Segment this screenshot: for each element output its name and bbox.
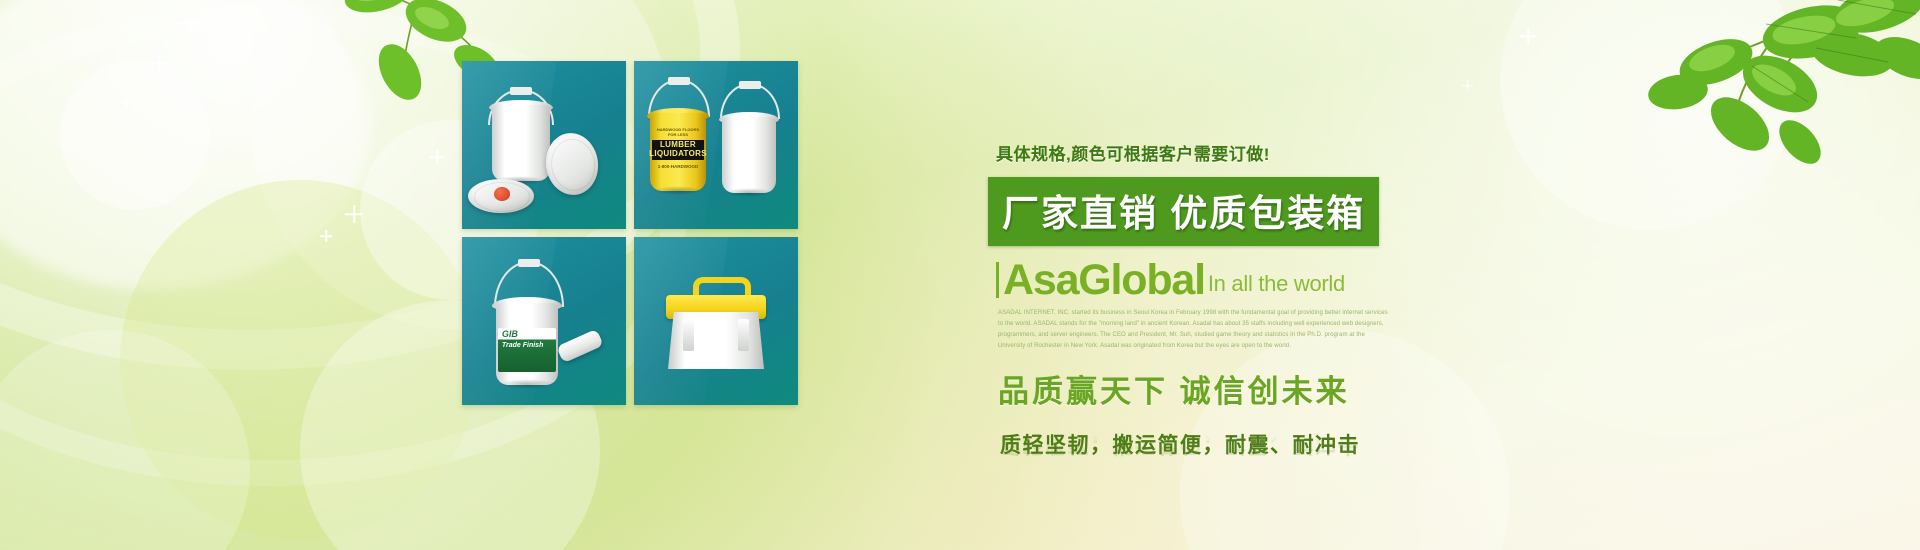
sparkle-icon (430, 150, 444, 164)
company-fine-print: ASADAL INTERNET, INC. started its busine… (998, 308, 1394, 352)
brand-row: AsaGlobal In all the world (996, 260, 1608, 301)
slogan-primary: 品质赢天下 诚信创未来 (998, 366, 1608, 411)
gib-label-sub: Trade Finish (498, 339, 556, 349)
product-panel-yellow-pail[interactable]: HARDWOOD FLOORS FOR LESS LUMBER LIQUIDAT… (634, 61, 798, 229)
tool-box-latch (738, 319, 749, 350)
label-brand-line2: LIQUIDATORS (649, 150, 707, 158)
bokeh-circle (60, 60, 210, 210)
promo-banner: HARDWOOD FLOORS FOR LESS LUMBER LIQUIDAT… (0, 0, 1920, 550)
pail-body (492, 105, 550, 181)
product-panel-white-pail[interactable] (462, 61, 626, 229)
headline-banner: 厂家直销 优质包装箱 (988, 177, 1379, 246)
pail-label-bottom: 1-800-HARDWOOD (653, 164, 702, 169)
white-pail (492, 105, 550, 181)
paint-roller (558, 337, 602, 355)
white-pail (722, 117, 776, 193)
sparkle-icon (176, 10, 202, 36)
pail-label-top: HARDWOOD FLOORS FOR LESS (653, 127, 702, 137)
brand-slogan: In all the world (1208, 271, 1345, 301)
product-panel-tool-box[interactable] (634, 237, 798, 405)
pail-grip (739, 81, 761, 89)
bokeh-circle (0, 0, 370, 290)
sparkle-icon (345, 205, 363, 223)
bokeh-circle (0, 330, 250, 550)
gib-pail: GIB Trade Finish (496, 303, 558, 385)
pail-label-brand: LUMBER LIQUIDATORS (652, 140, 704, 160)
roller-tube (556, 329, 604, 363)
headline-text: 厂家直销 优质包装箱 (1002, 193, 1365, 234)
pail-body (722, 117, 776, 193)
brand-tick-mark (996, 262, 999, 298)
subtitle-custom-spec: 具体规格,颜色可根据客户需要订做! (996, 140, 1608, 165)
gib-label: GIB Trade Finish (498, 328, 556, 372)
marketing-text-column: 具体规格,颜色可根据客户需要订做! 厂家直销 优质包装箱 AsaGlobal I… (988, 140, 1608, 491)
sparkle-icon (320, 230, 332, 242)
brand-name-text: AsaGlobal (1003, 256, 1205, 304)
product-image-grid: HARDWOOD FLOORS FOR LESS LUMBER LIQUIDAT… (462, 61, 798, 409)
pail-shadow (499, 379, 555, 389)
product-panel-gib-pail[interactable]: GIB Trade Finish (462, 237, 626, 405)
pail-grip (518, 259, 540, 267)
slogan-secondary-reflection: 质轻坚韧，搬运简便，耐震、耐冲击 (1000, 431, 1608, 461)
gib-label-brand: GIB (498, 328, 556, 339)
yellow-pail: HARDWOOD FLOORS FOR LESS LUMBER LIQUIDAT… (650, 113, 706, 191)
sparkle-icon (1520, 28, 1536, 44)
pail-grip (668, 77, 690, 85)
sparkle-icon (1462, 80, 1473, 91)
bokeh-circle (120, 180, 480, 540)
pail-lid-upright (542, 130, 602, 199)
red-cap (494, 187, 510, 201)
pail-grip (510, 87, 532, 95)
pail-shadow (653, 186, 703, 195)
pail-shadow (725, 188, 774, 197)
pail-lid-flat (468, 179, 534, 213)
brand-name: AsaGlobal (996, 260, 1205, 301)
tool-box-latch (683, 319, 694, 350)
sparkle-icon (120, 96, 132, 108)
tool-box (668, 277, 764, 369)
lid-inner-ring (547, 136, 599, 195)
sparkle-icon (150, 54, 168, 72)
